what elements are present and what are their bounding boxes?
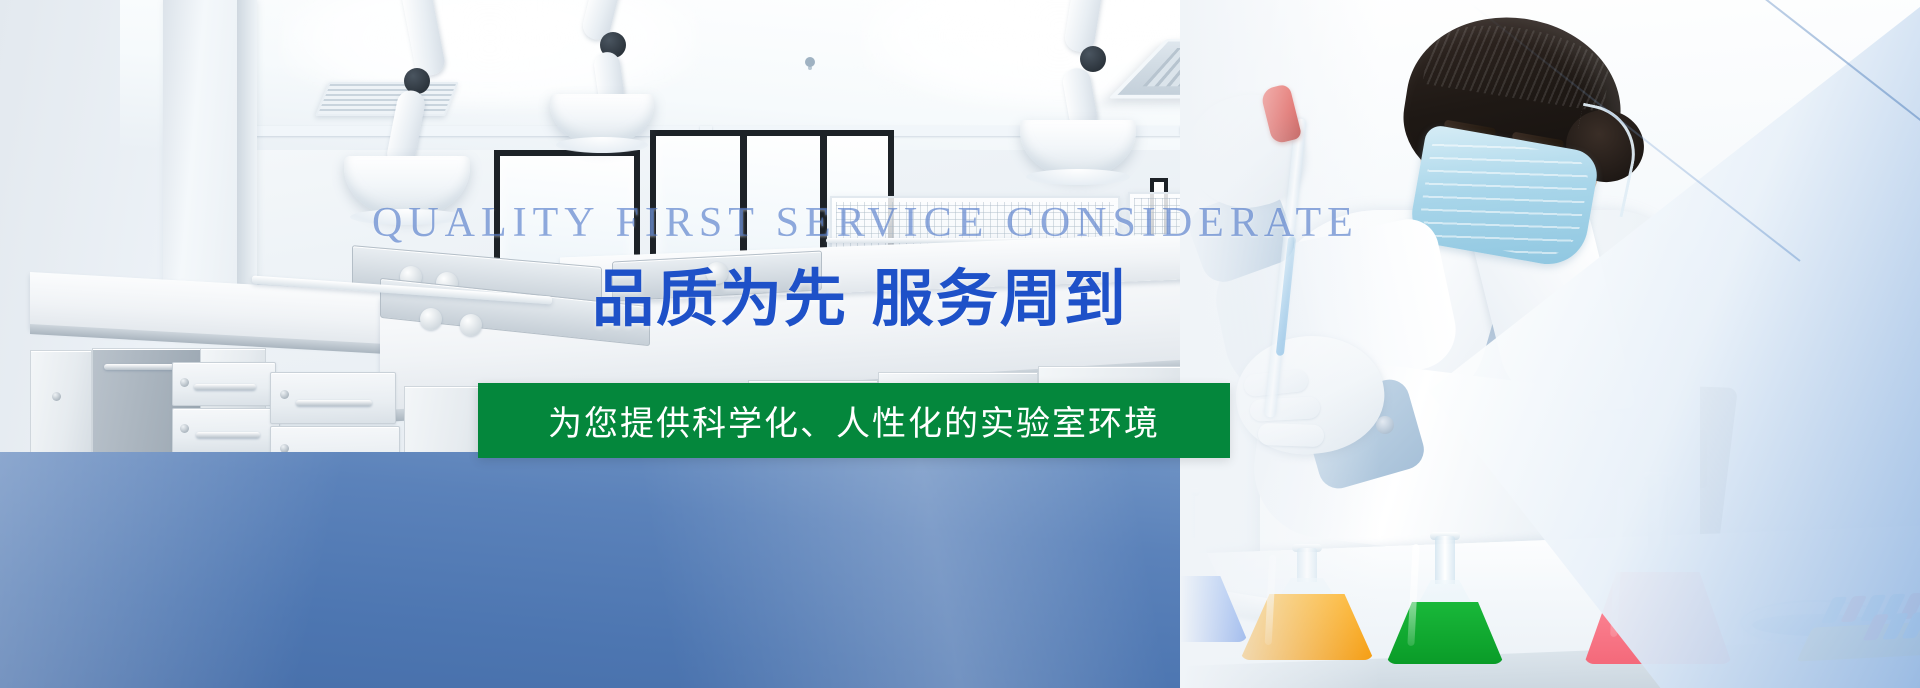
text-overlay: QUALITY FIRST SERVICE CONSIDERATE 品质为先 服… [0, 0, 1920, 688]
subtitle-text: 为您提供科学化、人性化的实验室环境 [548, 396, 1160, 445]
english-tagline: QUALITY FIRST SERVICE CONSIDERATE [372, 199, 1359, 247]
subtitle-bar: 为您提供科学化、人性化的实验室环境 [478, 383, 1230, 458]
hero-banner: QUALITY FIRST SERVICE CONSIDERATE 品质为先 服… [0, 0, 1920, 688]
headline: 品质为先 服务周到 [592, 248, 1128, 338]
